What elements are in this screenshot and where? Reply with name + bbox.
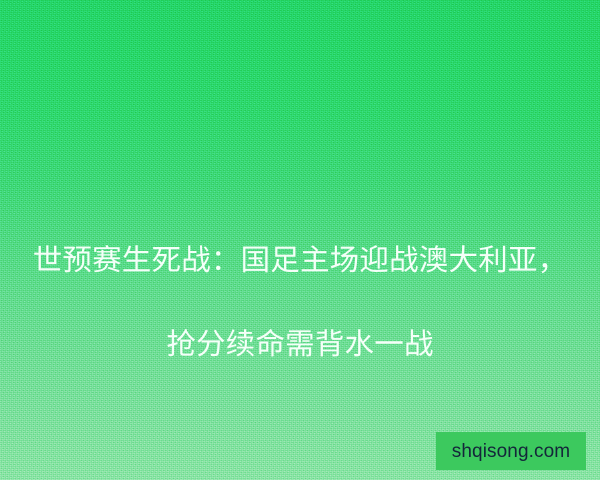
headline-line-1: 世预赛生死战：国足主场迎战澳大利亚，: [0, 240, 600, 282]
headline: 世预赛生死战：国足主场迎战澳大利亚， 抢分续命需背水一战: [0, 198, 600, 408]
watermark-site-label: shqisong.com: [452, 442, 570, 461]
watermark-badge: shqisong.com: [436, 432, 586, 470]
headline-line-2: 抢分续命需背水一战: [0, 324, 600, 366]
title-card-canvas: 世预赛生死战：国足主场迎战澳大利亚， 抢分续命需背水一战 shqisong.co…: [0, 0, 600, 480]
